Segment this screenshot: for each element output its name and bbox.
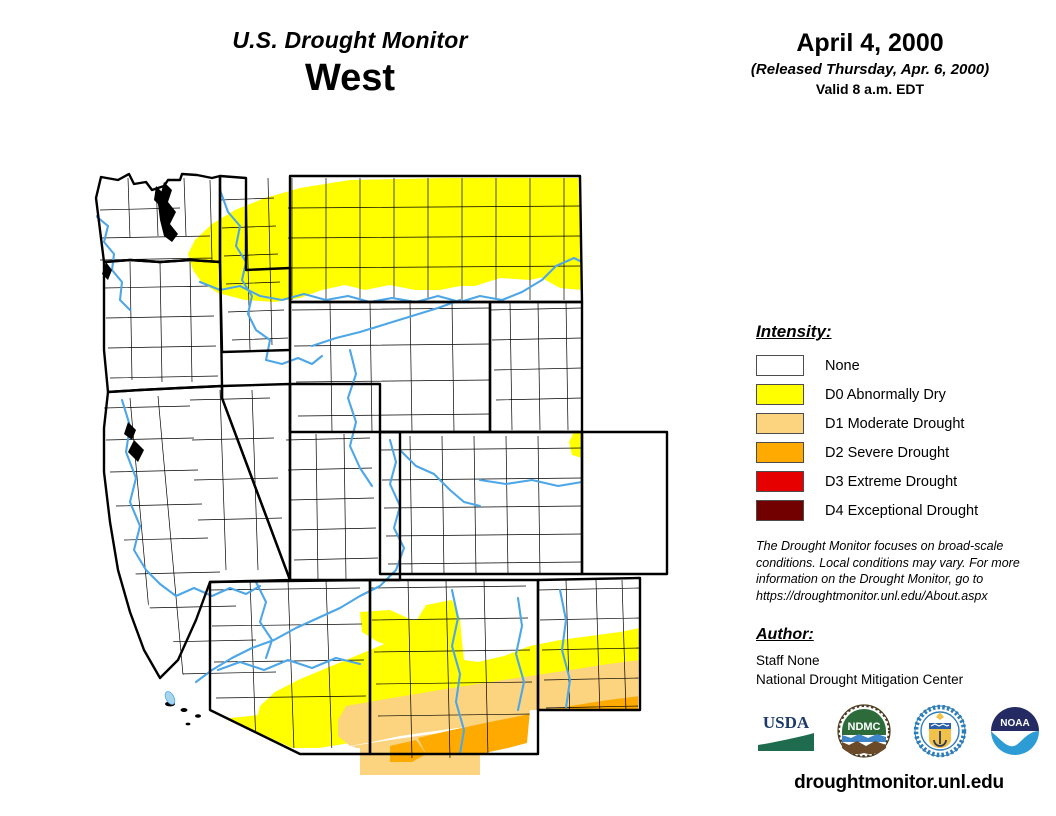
legend-label-d1: D1 Moderate Drought [825,416,964,432]
legend-item-d2[interactable]: D2 Severe Drought [756,438,1036,467]
drought-map[interactable] [60,150,740,800]
usda-logo[interactable]: USDA [756,707,816,760]
legend-swatch-d3 [756,471,804,492]
legend-label-none: None [825,358,860,374]
noaa-logo[interactable]: NOAA [988,704,1042,763]
svg-text:USDA: USDA [763,713,810,732]
drought-monitor-page: U.S. Drought Monitor West April 4, 2000 … [0,0,1056,816]
legend-item-d0[interactable]: D0 Abnormally Dry [756,380,1036,409]
legend-label-d2: D2 Severe Drought [825,445,949,461]
usdc-seal-logo[interactable] [913,704,967,763]
legend: Intensity: None D0 Abnormally Dry D1 Mod… [756,322,1036,525]
page-title: U.S. Drought Monitor [150,28,550,53]
legend-item-d1[interactable]: D1 Moderate Drought [756,409,1036,438]
legend-label-d3: D3 Extreme Drought [825,474,957,490]
author-organization: National Drought Mitigation Center [756,671,1036,690]
legend-swatch-d4 [756,500,804,521]
legend-swatch-none [756,355,804,376]
partner-logos: USDA NDMC [756,702,1042,764]
legend-item-d4[interactable]: D4 Exceptional Drought [756,496,1036,525]
title-block: U.S. Drought Monitor West [150,28,550,99]
legend-item-d3[interactable]: D3 Extreme Drought [756,467,1036,496]
legend-label-d4: D4 Exceptional Drought [825,503,978,519]
ndmc-logo[interactable]: NDMC [837,704,891,763]
legend-swatch-d0 [756,384,804,405]
disclaimer-text: The Drought Monitor focuses on broad-sca… [756,538,1028,605]
valid-time: Valid 8 a.m. EDT [700,82,1040,97]
map-date: April 4, 2000 [700,30,1040,58]
legend-swatch-d2 [756,442,804,463]
legend-title: Intensity: [756,322,1036,342]
author-block: Author: Staff None National Drought Miti… [756,626,1036,690]
author-heading: Author: [756,626,1036,644]
legend-item-none[interactable]: None [756,351,1036,380]
author-name: Staff None [756,652,1036,671]
svg-text:NDMC: NDMC [848,721,881,733]
region-title: West [150,59,550,99]
svg-text:NOAA: NOAA [1000,718,1029,729]
release-date: (Released Thursday, Apr. 6, 2000) [700,62,1040,79]
date-block: April 4, 2000 (Released Thursday, Apr. 6… [700,30,1040,97]
legend-label-d0: D0 Abnormally Dry [825,387,946,403]
legend-swatch-d1 [756,413,804,434]
website-url[interactable]: droughtmonitor.unl.edu [756,772,1042,794]
